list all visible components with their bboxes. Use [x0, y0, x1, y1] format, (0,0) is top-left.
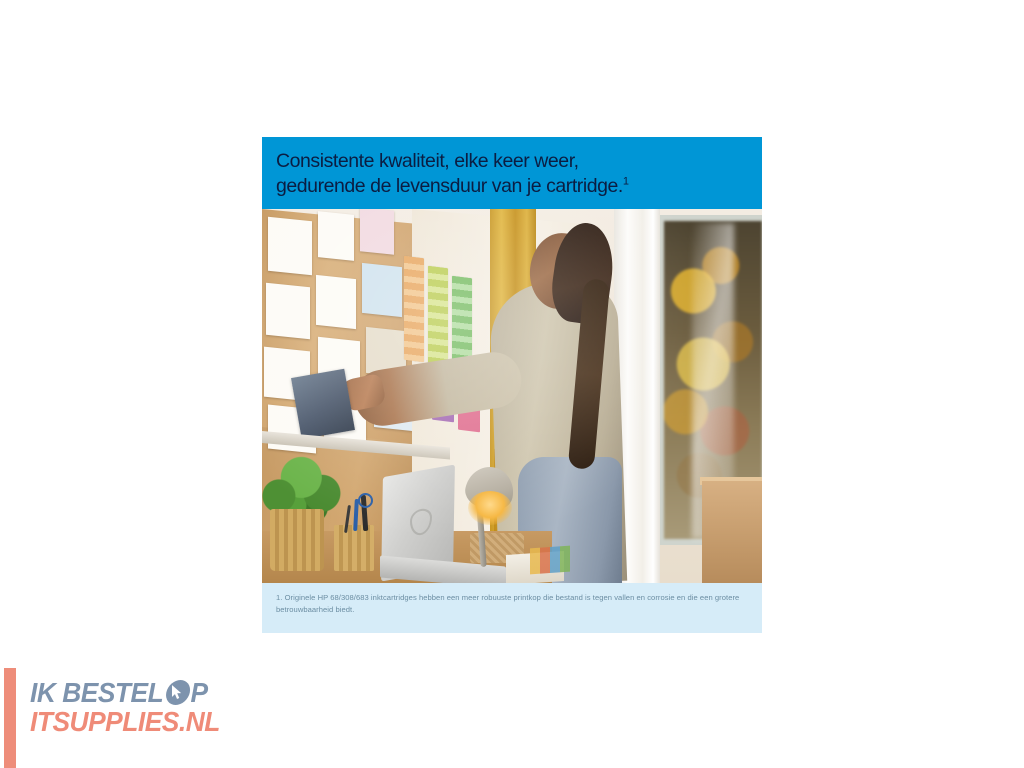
- held-photo-print: [291, 369, 355, 439]
- mouse-pointer-icon: [164, 680, 192, 705]
- colour-photo-print: [530, 546, 570, 575]
- headline-line-2: gedurende de levensduur van je cartridge…: [276, 175, 623, 197]
- pinned-print: [268, 217, 312, 276]
- wooden-cabinet: [702, 481, 762, 583]
- brand-logo-line-1: IK BESTEL P: [30, 678, 227, 707]
- pencil-cup: [334, 525, 374, 571]
- footnote-text: 1. Originele HP 68/308/683 inktcartridge…: [276, 592, 746, 615]
- brand-logo-line-1-prefix: IK BESTEL: [30, 678, 163, 707]
- plant-pot: [270, 509, 324, 571]
- brand-logo-line-1-suffix: P: [190, 678, 207, 707]
- brand-accent-bar: [4, 668, 16, 768]
- brand-logo[interactable]: IK BESTEL P ITSUPPLIES.NL: [30, 678, 240, 748]
- headline-banner: Consistente kwaliteit, elke keer weer, g…: [262, 137, 762, 209]
- pinned-print: [318, 211, 354, 261]
- colour-chart-strip: [428, 266, 448, 372]
- promo-card: Consistente kwaliteit, elke keer weer, g…: [262, 137, 762, 633]
- pinned-print: [266, 283, 310, 340]
- desk-lamp-glow: [468, 491, 512, 525]
- colour-chart-strip: [404, 256, 424, 362]
- pinned-print: [316, 275, 356, 329]
- pinned-print: [362, 263, 402, 317]
- promo-photo: [262, 209, 762, 583]
- headline-line-1: Consistente kwaliteit, elke keer weer,: [276, 150, 579, 172]
- pinned-print: [360, 209, 394, 255]
- footnote-box: 1. Originele HP 68/308/683 inktcartridge…: [262, 583, 762, 633]
- brand-logo-line-2: ITSUPPLIES.NL: [30, 707, 227, 736]
- headline-footnote-marker: 1: [623, 175, 629, 187]
- page-title: Consistente kwaliteit, elke keer weer, g…: [276, 149, 748, 198]
